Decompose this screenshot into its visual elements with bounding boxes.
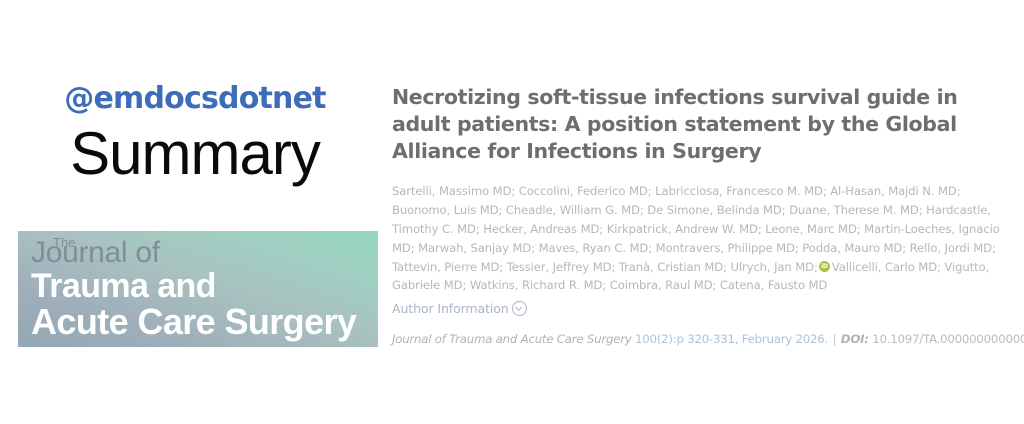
- article-summary-card: @emdocsdotnet Summary The Journal of Tra…: [0, 0, 1024, 424]
- emdocs-handle: @emdocsdotnet: [0, 84, 390, 114]
- summary-heading: Summary: [0, 124, 390, 184]
- author-information-label: Author Information: [392, 301, 509, 316]
- author-information-toggle[interactable]: Author Information: [392, 301, 527, 316]
- brand-panel: @emdocsdotnet Summary The Journal of Tra…: [0, 0, 390, 424]
- article-title: Necrotizing soft-tissue infections survi…: [392, 84, 982, 165]
- citation-journal-name: Journal of Trauma and Acute Care Surgery: [392, 332, 632, 346]
- orcid-id-icon[interactable]: [819, 261, 830, 272]
- journal-logo-trauma-and: Trauma and: [31, 269, 374, 304]
- article-panel: Necrotizing soft-tissue infections survi…: [392, 0, 1016, 424]
- chevron-down-circle-icon[interactable]: [512, 301, 527, 316]
- citation-doi-label: DOI:: [841, 332, 869, 346]
- citation-volume-issue-pages[interactable]: 100(2):p 320-331, February 2026.: [635, 332, 828, 346]
- citation-separator: |: [832, 332, 838, 346]
- journal-logo: The Journal of Trauma and Acute Care Sur…: [18, 231, 378, 347]
- author-list: Sartelli, Massimo MD; Coccolini, Federic…: [392, 182, 1012, 295]
- citation-line: Journal of Trauma and Acute Care Surgery…: [392, 332, 1016, 346]
- journal-logo-acute-care-surgery: Acute Care Surgery: [31, 303, 374, 340]
- journal-logo-journal-of: Journal of: [31, 238, 160, 268]
- citation-doi-value[interactable]: 10.1097/TA.0000000000004833: [872, 332, 1024, 346]
